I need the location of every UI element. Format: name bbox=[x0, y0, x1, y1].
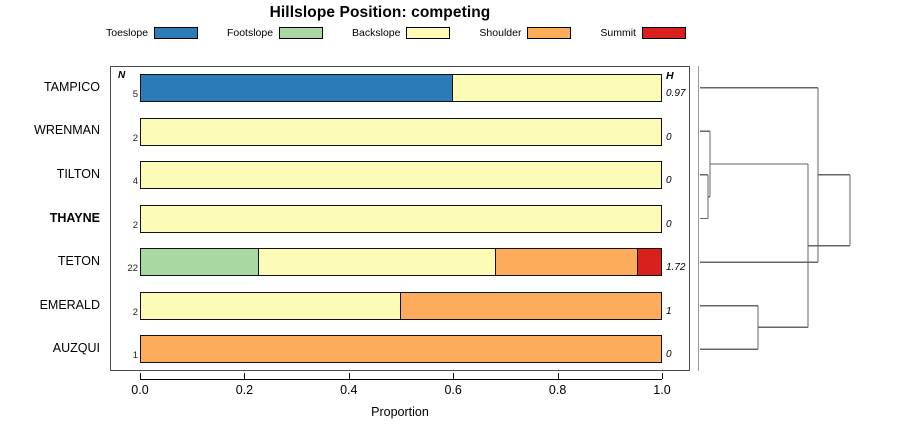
y-axis-labels: TAMPICOWRENMANTILTONTHAYNETETONEMERALDAU… bbox=[0, 66, 104, 371]
legend-label: Summit bbox=[600, 27, 636, 39]
bar-segment-backslope[interactable] bbox=[141, 293, 401, 319]
stacked-bar-rows: 50.97204020221.722110 bbox=[110, 66, 690, 371]
legend: Toeslope Footslope Backslope Shoulder Su… bbox=[106, 25, 686, 41]
x-axis-tick bbox=[140, 373, 141, 379]
x-axis-tick bbox=[349, 373, 350, 379]
bar-segment-shoulder[interactable] bbox=[141, 336, 661, 362]
y-axis-label-thayne: THAYNE bbox=[0, 211, 100, 225]
x-axis-line bbox=[140, 379, 662, 380]
legend-swatch-footslope bbox=[279, 27, 323, 39]
table-row: 20 bbox=[110, 197, 690, 241]
x-axis-tick bbox=[244, 373, 245, 379]
legend-label: Toeslope bbox=[106, 27, 148, 39]
bar-segment-backslope[interactable] bbox=[453, 75, 661, 101]
stacked-bar[interactable] bbox=[140, 292, 662, 320]
x-axis-tick-label: 0.2 bbox=[219, 383, 269, 397]
stacked-bar[interactable] bbox=[140, 205, 662, 233]
y-axis-label-auzqui: AUZQUI bbox=[0, 341, 100, 355]
stacked-bar[interactable] bbox=[140, 74, 662, 102]
legend-swatch-shoulder bbox=[527, 27, 571, 39]
row-n-value: 5 bbox=[118, 89, 138, 100]
legend-entry-summit: Summit bbox=[600, 27, 686, 39]
x-axis-tick-label: 0.8 bbox=[533, 383, 583, 397]
x-axis-tick-label: 0.6 bbox=[428, 383, 478, 397]
table-row: 40 bbox=[110, 153, 690, 197]
bar-segment-backslope[interactable] bbox=[259, 249, 496, 275]
bar-segment-backslope[interactable] bbox=[141, 162, 661, 188]
dendrogram-svg bbox=[698, 66, 900, 371]
row-n-value: 22 bbox=[118, 263, 138, 274]
legend-entry-backslope: Backslope bbox=[352, 27, 450, 39]
table-row: 21 bbox=[110, 284, 690, 328]
page-title: Hillslope Position: competing bbox=[0, 4, 760, 22]
y-axis-label-emerald: EMERALD bbox=[0, 298, 100, 312]
x-axis-tick-label: 0.0 bbox=[115, 383, 165, 397]
y-axis-label-tilton: TILTON bbox=[0, 167, 100, 181]
x-axis-title: Proportion bbox=[110, 405, 690, 419]
x-axis-tick-label: 1.0 bbox=[637, 383, 687, 397]
chart-root: Hillslope Position: competing Toeslope F… bbox=[0, 0, 900, 440]
row-n-value: 2 bbox=[118, 307, 138, 318]
legend-entry-toeslope: Toeslope bbox=[106, 27, 198, 39]
row-n-value: 2 bbox=[118, 220, 138, 231]
y-axis-label-tampico: TAMPICO bbox=[0, 80, 100, 94]
x-axis-tick bbox=[558, 373, 559, 379]
row-n-value: 2 bbox=[118, 133, 138, 144]
bar-segment-shoulder[interactable] bbox=[401, 293, 661, 319]
x-axis-tick bbox=[453, 373, 454, 379]
stacked-bar[interactable] bbox=[140, 335, 662, 363]
legend-label: Backslope bbox=[352, 27, 400, 39]
row-n-value: 4 bbox=[118, 176, 138, 187]
table-row: 20 bbox=[110, 110, 690, 154]
legend-swatch-backslope bbox=[406, 27, 450, 39]
bar-segment-footslope[interactable] bbox=[141, 249, 259, 275]
x-axis-tick bbox=[662, 373, 663, 379]
legend-label: Footslope bbox=[227, 27, 273, 39]
dendrogram bbox=[698, 66, 900, 371]
legend-entry-footslope: Footslope bbox=[227, 27, 323, 39]
y-axis-label-teton: TETON bbox=[0, 254, 100, 268]
bar-segment-shoulder[interactable] bbox=[496, 249, 638, 275]
bar-segment-backslope[interactable] bbox=[141, 206, 661, 232]
legend-swatch-summit bbox=[642, 27, 686, 39]
legend-swatch-toeslope bbox=[154, 27, 198, 39]
stacked-bar[interactable] bbox=[140, 118, 662, 146]
bar-segment-toeslope[interactable] bbox=[141, 75, 453, 101]
x-axis-tick-label: 0.4 bbox=[324, 383, 374, 397]
stacked-bar[interactable] bbox=[140, 248, 662, 276]
table-row: 10 bbox=[110, 327, 690, 371]
stacked-bar[interactable] bbox=[140, 161, 662, 189]
y-axis-label-wrenman: WRENMAN bbox=[0, 123, 100, 137]
bar-segment-summit[interactable] bbox=[638, 249, 661, 275]
bar-segment-backslope[interactable] bbox=[141, 119, 661, 145]
table-row: 50.97 bbox=[110, 66, 690, 110]
table-row: 221.72 bbox=[110, 240, 690, 284]
legend-entry-shoulder: Shoulder bbox=[479, 27, 571, 39]
row-n-value: 1 bbox=[118, 350, 138, 361]
legend-label: Shoulder bbox=[479, 27, 521, 39]
